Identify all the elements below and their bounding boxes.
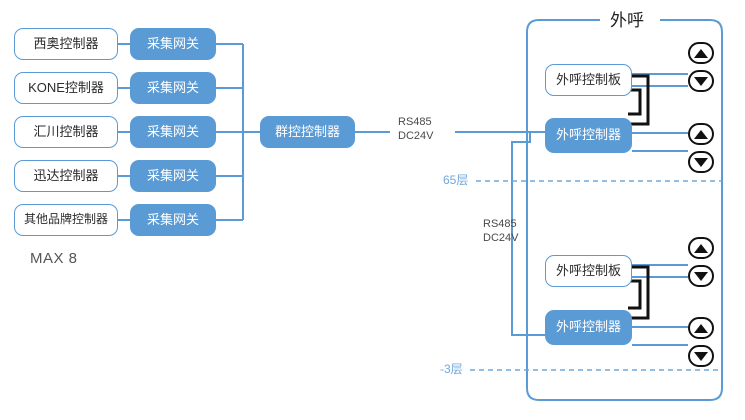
group-controller-box[interactable]: 群控控制器 [260,116,355,148]
call-button-up-3[interactable] [688,237,714,259]
gateway-box-1[interactable]: 采集网关 [130,28,216,60]
controller-box-huichuan[interactable]: 汇川控制器 [14,116,118,148]
arrow-up-icon [694,324,708,333]
call-controller-box-1[interactable]: 外呼控制器 [545,118,632,153]
controller-box-xiao[interactable]: 西奥控制器 [14,28,118,60]
controller-box-kone[interactable]: KONE控制器 [14,72,118,104]
max-count-label: MAX 8 [30,250,78,269]
arrow-down-icon [694,272,708,281]
gateway-box-4[interactable]: 采集网关 [130,160,216,192]
call-board-box-1[interactable]: 外呼控制板 [545,64,632,96]
rs485-label-horizontal: RS485 DC24V [398,116,433,144]
arrow-up-icon [694,49,708,58]
arrow-up-icon [694,130,708,139]
controller-box-other[interactable]: 其他品牌控制器 [14,204,118,236]
call-button-down-4[interactable] [688,345,714,367]
call-board-box-2[interactable]: 外呼控制板 [545,255,632,287]
arrow-down-icon [694,352,708,361]
call-button-down-3[interactable] [688,265,714,287]
call-button-up-4[interactable] [688,317,714,339]
arrow-up-icon [694,244,708,253]
call-button-up-2[interactable] [688,123,714,145]
floor-label-minus3: -3层 [440,362,463,377]
call-button-down-2[interactable] [688,151,714,173]
gateway-box-2[interactable]: 采集网关 [130,72,216,104]
arrow-down-icon [694,77,708,86]
bracket-upper-inner [628,90,640,114]
bracket-lower-inner [628,281,640,308]
floor-label-65: 65层 [443,173,468,188]
controller-box-xunda[interactable]: 迅达控制器 [14,160,118,192]
call-button-up-1[interactable] [688,42,714,64]
rs485-label-vertical: RS485 DC24V [483,218,518,246]
gateway-box-3[interactable]: 采集网关 [130,116,216,148]
gateway-box-5[interactable]: 采集网关 [130,204,216,236]
call-panel-title: 外呼 [610,10,644,31]
diagram-canvas: 西奥控制器 KONE控制器 汇川控制器 迅达控制器 其他品牌控制器 采集网关 采… [0,0,745,420]
call-button-down-1[interactable] [688,70,714,92]
arrow-down-icon [694,158,708,167]
call-controller-box-2[interactable]: 外呼控制器 [545,310,632,345]
